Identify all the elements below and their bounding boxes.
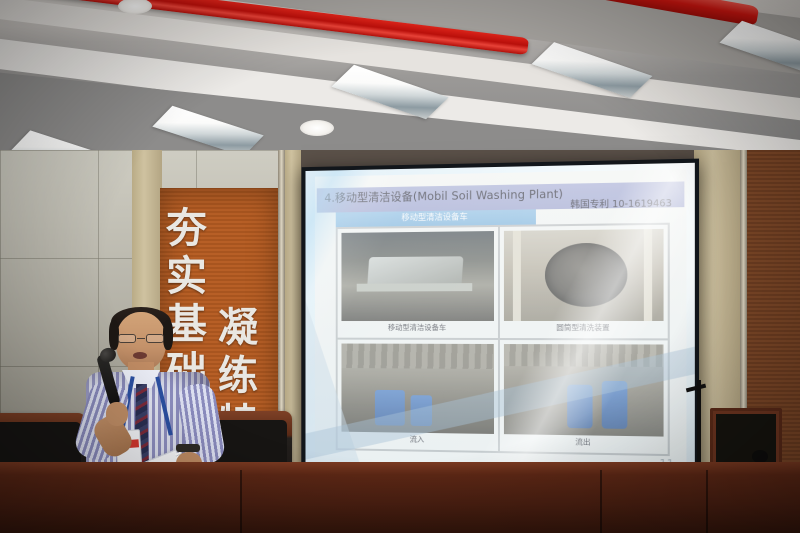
slide-photo-mobile-truck: [341, 231, 494, 321]
left-hand: [106, 402, 128, 426]
slide-cell: 流出: [499, 339, 669, 455]
slide-photo-caption: 圆筒型清洗装置: [504, 321, 664, 334]
downlight-icon: [300, 120, 334, 136]
photo-tank: [374, 390, 404, 426]
slide-photo-outflow: [504, 344, 664, 437]
microphone-stand: [697, 380, 701, 468]
slide-cell: 流入: [337, 339, 499, 452]
downlight-icon: [118, 0, 152, 14]
hair-side: [163, 320, 173, 350]
photo-roof: [341, 344, 494, 370]
slide-photo-drum: [504, 229, 664, 321]
wristwatch: [176, 444, 200, 452]
glasses-lens: [118, 334, 136, 343]
slide-photo-grid: 移动型清洁设备车 圆筒型清洗装置: [336, 223, 670, 456]
photo-roof: [504, 344, 664, 367]
slide-patent-number: 韩国专利 10-1619463: [570, 195, 672, 211]
desk: [0, 462, 800, 533]
photo-tank: [567, 384, 593, 428]
desk-seam: [600, 470, 602, 533]
photo-drum-shape: [545, 242, 628, 306]
photo-tank: [602, 381, 628, 429]
slide-photo-caption: 流入: [341, 432, 494, 447]
desk-seam: [706, 470, 708, 533]
photo-post: [513, 231, 521, 321]
banner-char: 练: [218, 352, 258, 400]
desk-seam: [240, 470, 242, 533]
podium-monitor: [710, 408, 782, 470]
mouth: [133, 352, 147, 359]
banner-char: 夯: [166, 204, 207, 252]
glasses-icon: [118, 334, 164, 343]
slide-photo-caption: 流出: [504, 434, 664, 450]
presentation-slide: 4.移动型清洁设备(Mobil Soil Washing Plant) 韩国专利…: [315, 169, 687, 475]
glasses-lens: [146, 334, 164, 343]
photo-post: [644, 229, 652, 321]
banner-char: 凝: [218, 304, 258, 352]
slide-cell: 移动型清洁设备车: [337, 226, 499, 339]
banner-char: 实: [166, 252, 207, 300]
slide-photo-inflow: [341, 344, 494, 434]
lecture-hall-scene: 夯 实 基 础 凝 练 特 色 4.移动型清洁设备(Mobil Soil Was…: [0, 0, 800, 533]
projection-screen: 4.移动型清洁设备(Mobil Soil Washing Plant) 韩国专利…: [305, 163, 694, 481]
photo-tank: [411, 395, 432, 426]
projection-screen-frame: 4.移动型清洁设备(Mobil Soil Washing Plant) 韩国专利…: [302, 159, 699, 486]
slide-photo-caption: 移动型清洁设备车: [341, 321, 494, 334]
glasses-bridge: [137, 338, 145, 339]
slide-cell: 圆筒型清洗装置: [499, 224, 669, 340]
